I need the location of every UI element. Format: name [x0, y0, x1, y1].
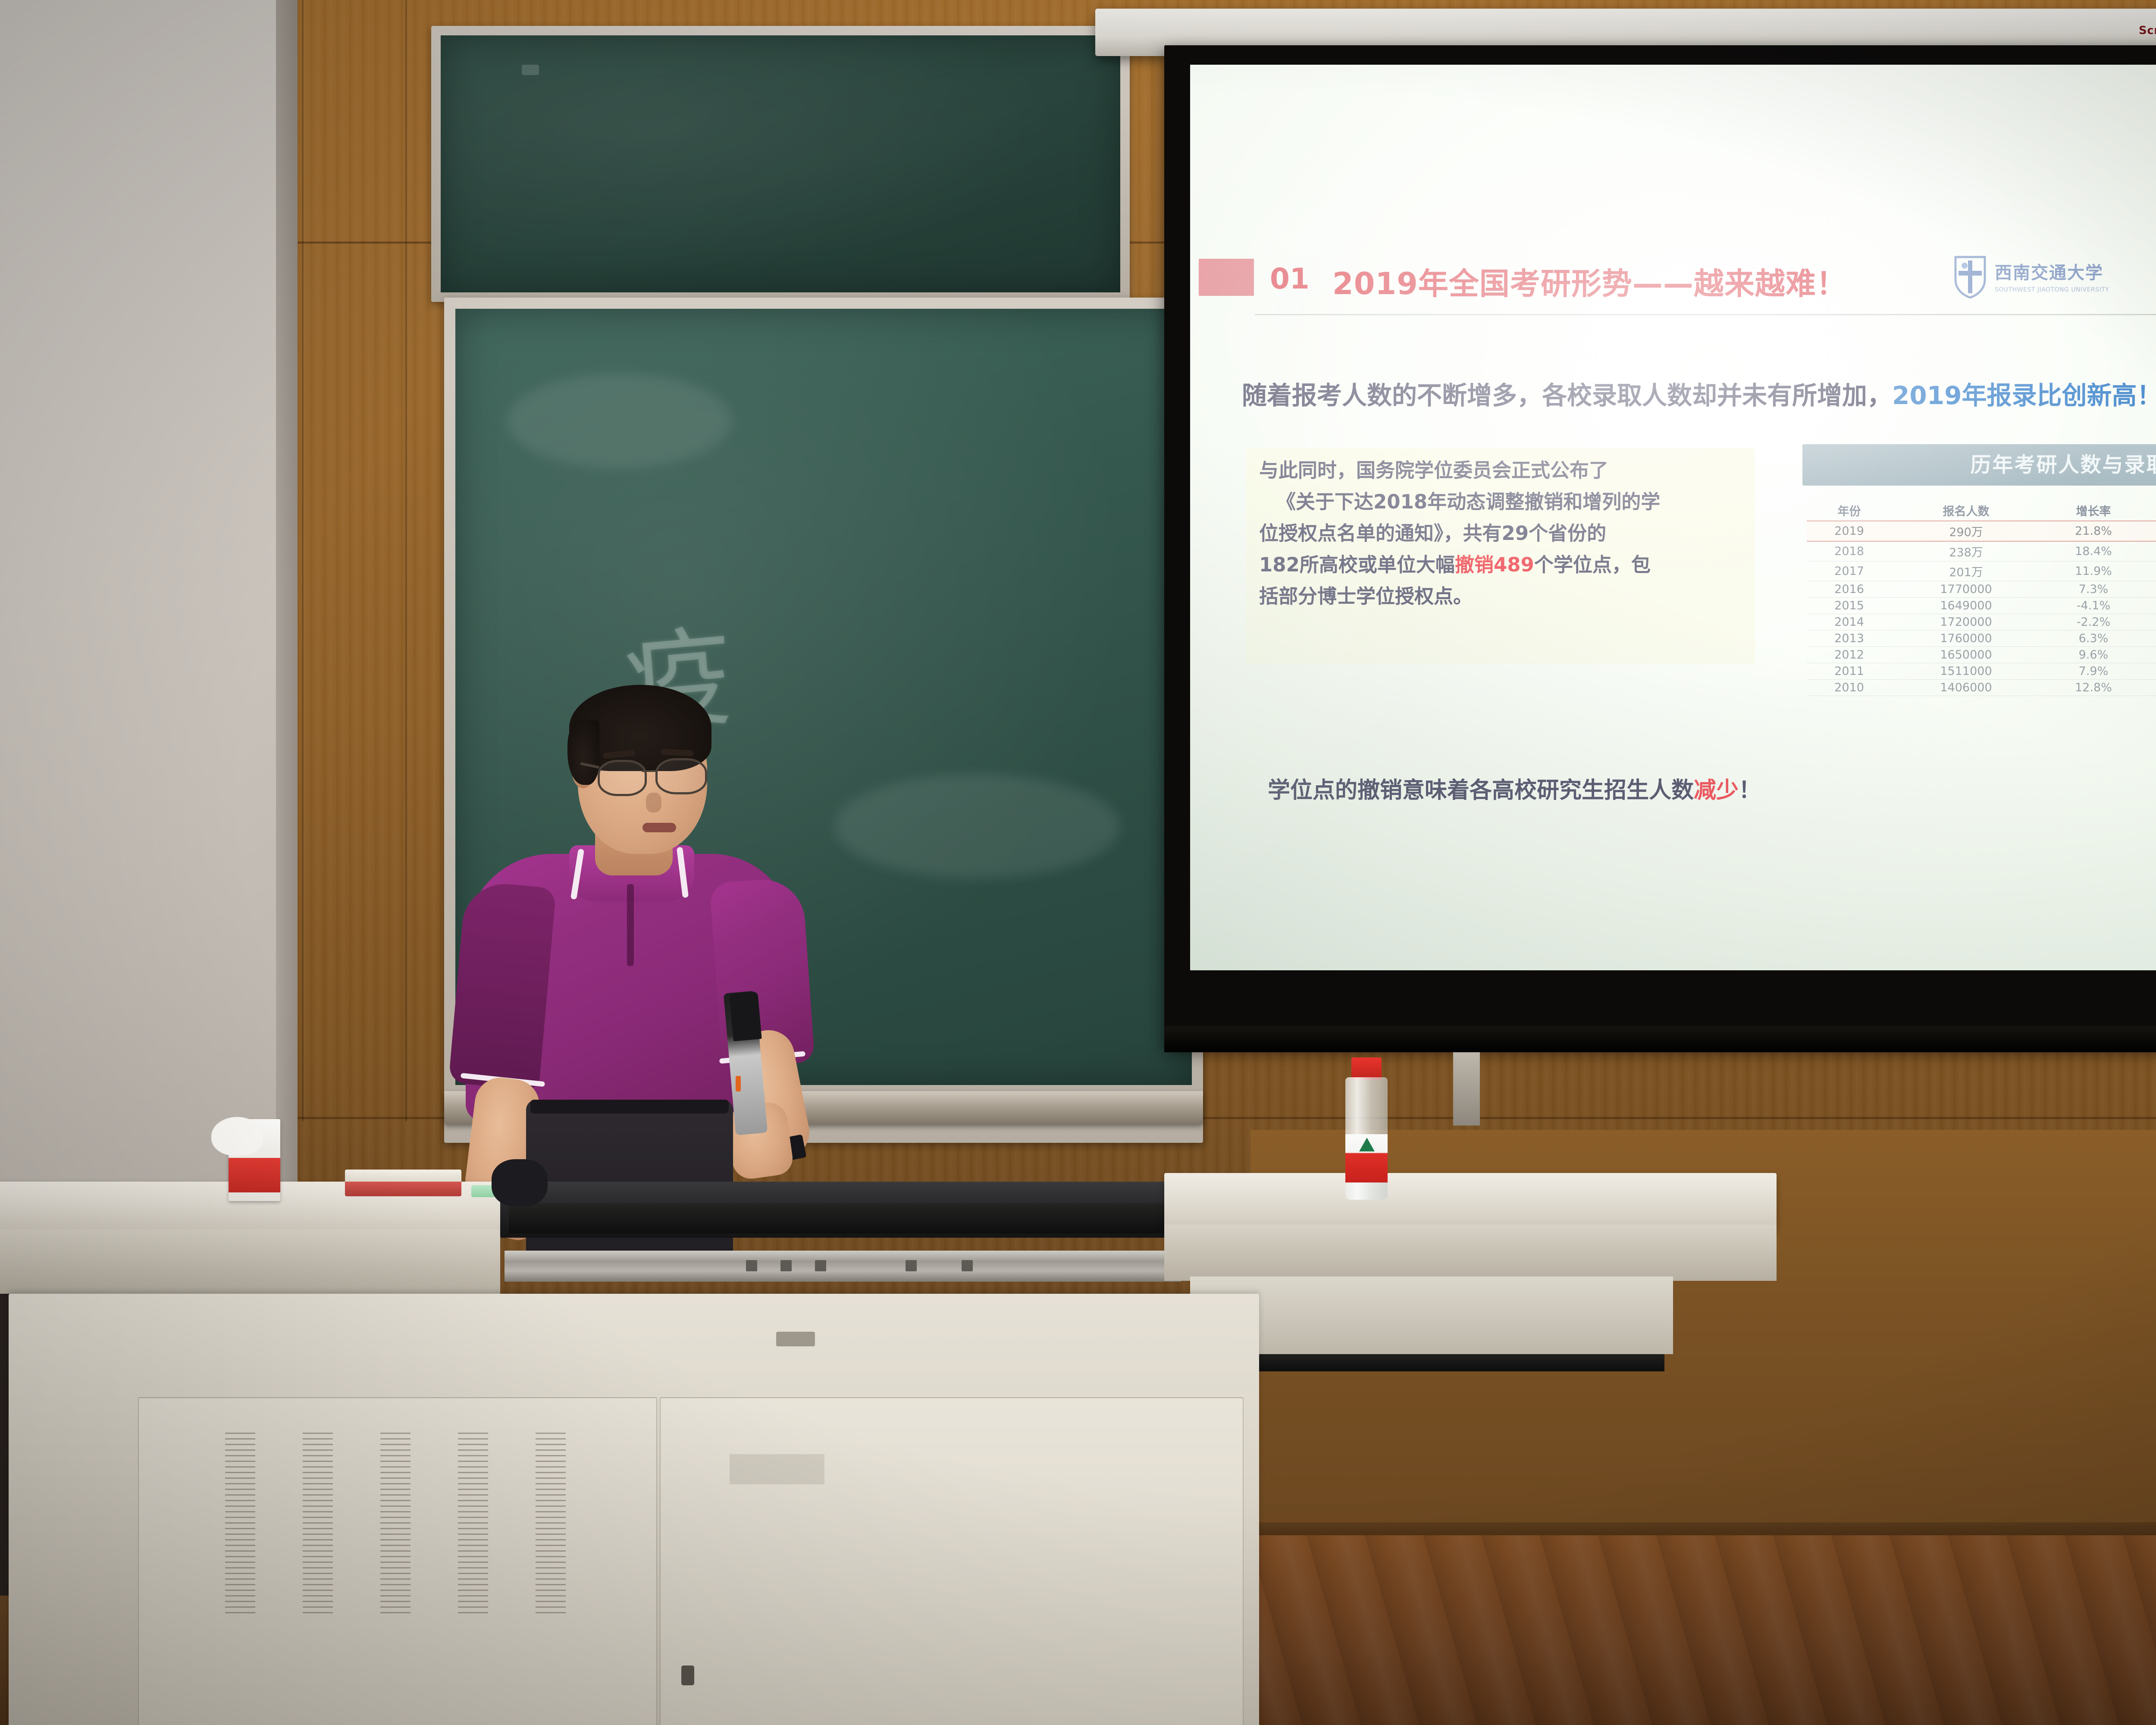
bottom-line-pre: 学位点的撤销意味着各高校研究生招生人数 [1268, 778, 1694, 803]
glasses-lens-left [598, 760, 647, 796]
chalk-mark [522, 65, 539, 75]
table-cell: 2015 [1807, 598, 1892, 614]
cabinet-lock [681, 1665, 694, 1685]
floor [1186, 1535, 2156, 1725]
table-cell: 2016 [1807, 581, 1892, 598]
table-row: 201115110007.9%4950003.1:1 [1807, 663, 2156, 680]
table-cell: 517200 [2147, 647, 2156, 663]
lectern-cabinet [9, 1294, 1259, 1725]
table-cell: 474400 [2147, 680, 2156, 696]
table-row: 2019290万21.8%72万4.0:1 [1807, 521, 2156, 541]
table-cell: -4.1% [2040, 598, 2147, 614]
cabinet-vent [458, 1433, 488, 1614]
glasses-bridge [642, 770, 657, 772]
table-cell: 545500 [2147, 614, 2156, 630]
table-column-header: 年份 [1807, 500, 1892, 521]
cabinet-door-right [660, 1397, 1244, 1725]
body-paragraph: 与此同时，国务院学位委员会正式公布了 《关于下达2018年动态调整撤销和增列的学… [1259, 455, 1746, 612]
table-title: 历年考研人数与录取统计 [1802, 444, 2156, 486]
table-row: 201216500009.6%5172003.2:1 [1807, 647, 2156, 663]
table-row: 2018238万18.4%76.25万3.1:1 [1807, 541, 2156, 561]
table-cell: 2019 [1807, 521, 1892, 541]
university-name-en: SOUTHWEST JIAOTONG UNIVERSITY [1995, 286, 2109, 293]
body-line-4-pre: 182所高校或单位大幅 [1259, 553, 1455, 576]
right-desk-top [1164, 1173, 1777, 1229]
drawer-slide-rail [505, 1251, 1181, 1282]
table-column-header: 增长率 [2040, 500, 2147, 521]
slide-accent-bar [1199, 259, 1254, 296]
wood-panel-line [405, 0, 407, 1121]
table-cell: 76.25万 [2147, 541, 2156, 561]
table-cell: 2012 [1807, 647, 1892, 663]
table-cell: 1650000 [1892, 647, 2040, 663]
bottom-line-highlight: 减少 [1694, 778, 1739, 803]
rail-hole [815, 1260, 826, 1271]
table-row: 2010140600012.8%4744003.0:1 [1807, 680, 2156, 696]
university-name: 西南交通大学 [1995, 259, 2109, 284]
table-cell: -2.2% [2040, 614, 2147, 630]
table-cell: 12.8% [2040, 680, 2147, 696]
table-column-header: 报名人数 [1892, 500, 2040, 521]
table-cell: 72.22万 [2147, 561, 2156, 581]
table-row: 20141720000-2.2%5455003.1:1 [1807, 614, 2156, 630]
body-line-5: 括部分博士学位授权点。 [1259, 581, 1746, 612]
microphone-head [729, 991, 761, 1041]
screen-bottom-bar [1164, 1026, 2156, 1052]
table-cell: 290万 [1892, 521, 2040, 541]
body-line-4-post: 个学位点，包 [1534, 553, 1651, 576]
table-cell: 540000 [2147, 630, 2156, 647]
table-title-band: 历年考研人数与录取统计 [1802, 444, 2156, 486]
body-line-3: 位授权点名单的通知》，共有29个省份的 [1259, 518, 1746, 549]
table-cell: 2010 [1807, 680, 1892, 696]
table-cell: 570000 [2147, 598, 2156, 614]
table-cell: 2013 [1807, 630, 1892, 647]
tissue-sheet [211, 1117, 263, 1156]
left-desk-edge [0, 1229, 500, 1294]
table-cell: 1770000 [1892, 581, 2040, 598]
cabinet-door-left [138, 1397, 657, 1725]
table-cell: 2011 [1807, 663, 1892, 680]
table-cell: 1649000 [1892, 598, 2040, 614]
tissue-box-label [229, 1158, 280, 1192]
slide-subtitle: 随着报考人数的不断增多，各校录取人数却并未有所增加，2019年报录比创新高！ [1242, 375, 2156, 411]
rail-hole [962, 1260, 973, 1271]
slide-title: 2019年全国考研形势——越来越难！ [1332, 260, 1847, 303]
right-cabinet-body [1190, 1276, 1673, 1354]
wood-panel-line [302, 0, 304, 1121]
screen-support-post [1453, 1052, 1480, 1126]
eraser-base [345, 1182, 461, 1196]
table-cell: 1511000 [1892, 663, 2040, 680]
microphone-indicator [736, 1076, 741, 1091]
chalk-smudge [835, 775, 1119, 878]
table-row: 201317600006.3%5400003.3:1 [1807, 630, 2156, 647]
table-cell: 18.4% [2040, 541, 2147, 561]
table-row: 20151649000-4.1%5700002.9:1 [1807, 598, 2156, 614]
glasses-lens-right [655, 758, 707, 794]
presenter-mouth [642, 823, 676, 832]
logo-group: 西南交通大学 SOUTHWEST JIAOTONG UNIVERSITY [1953, 250, 2156, 302]
cabinet-vent [536, 1433, 566, 1614]
table-cell: 589000 [2147, 581, 2156, 598]
rail-hole [906, 1260, 917, 1271]
bottom-line-post: ！ [1739, 778, 1761, 803]
table-cell: 21.8% [2040, 521, 2147, 541]
table-cell: 2017 [1807, 561, 1892, 581]
table-cell: 495000 [2147, 663, 2156, 680]
rail-hole [746, 1260, 757, 1271]
presenter-sideburn [567, 720, 599, 785]
table-cell: 238万 [1892, 541, 2040, 561]
table-cell: 1406000 [1892, 680, 2040, 696]
remote-control [492, 1159, 548, 1207]
table-cell: 72万 [2147, 521, 2156, 541]
table-cell: 11.9% [2040, 561, 2147, 581]
cabinet-vent [303, 1433, 333, 1614]
slide-section-number: 01 [1270, 262, 1310, 295]
shirt-placket [627, 884, 634, 966]
table-cell: 201万 [1892, 561, 2040, 581]
statistics-table: 年份报名人数增长率录取人数报录比 2019290万21.8%72万4.0:120… [1807, 500, 2156, 696]
cabinet-scuff [730, 1454, 824, 1484]
slide-bottom-line: 学位点的撤销意味着各高校研究生招生人数减少！ [1268, 772, 1761, 804]
presenter-belt [530, 1100, 729, 1113]
table-cell: 1760000 [1892, 630, 2040, 647]
left-white-wall [0, 0, 302, 1207]
university-shield-icon [1953, 254, 1987, 298]
table-body: 2019290万21.8%72万4.0:12018238万18.4%76.25万… [1807, 521, 2156, 696]
slide-content: 01 2019年全国考研形势——越来越难！ 西南交通大学 SOUTHWEST J… [1190, 65, 2156, 970]
body-line-4-highlight: 撤销489 [1455, 553, 1534, 576]
table-cell: 7.9% [2040, 663, 2147, 680]
eraser-felt [345, 1170, 461, 1182]
chalk-smudge [507, 373, 731, 468]
table-cell: 2018 [1807, 541, 1892, 561]
water-bottle [1340, 1057, 1393, 1200]
cabinet-vent [380, 1433, 411, 1614]
table-cell: 7.3% [2040, 581, 2147, 598]
table-cell: 1720000 [1892, 614, 2040, 630]
body-line-2: 《关于下达2018年动态调整撤销和增列的学 [1259, 486, 1746, 518]
table-cell: 2014 [1807, 614, 1892, 630]
subtitle-highlight: 2019年报录比创新高！ [1892, 381, 2156, 410]
bottle-cap [1351, 1057, 1382, 1080]
board-eraser [345, 1170, 461, 1195]
table-cell: 9.6% [2040, 647, 2147, 663]
body-line-4: 182所高校或单位大幅撤销489个学位点，包 [1259, 549, 1746, 581]
cabinet-handle [776, 1332, 815, 1346]
chalkboard-upper-surface [441, 35, 1120, 292]
subtitle-plain: 随着报考人数的不断增多，各校录取人数却并未有所增加， [1242, 381, 1892, 410]
table-cell: 6.3% [2040, 630, 2147, 647]
rail-hole [780, 1260, 792, 1271]
body-line-1: 与此同时，国务院学位委员会正式公布了 [1259, 455, 1746, 486]
statistics-table-wrap: 年份报名人数增长率录取人数报录比 2019290万21.8%72万4.0:120… [1807, 500, 2156, 696]
title-underline [1255, 314, 2156, 315]
presenter-left-sleeve [448, 881, 556, 1091]
presenter-nose [646, 793, 661, 812]
table-row: 2017201万11.9%72.22万2.8:1 [1807, 561, 2156, 581]
table-column-header: 录取人数 [2147, 500, 2156, 521]
projected-slide: 01 2019年全国考研形势——越来越难！ 西南交通大学 SOUTHWEST J… [1190, 65, 2156, 970]
table-row: 201617700007.3%5890003.0:1 [1807, 581, 2156, 598]
screen-brand-label: ScreenView [2139, 24, 2156, 37]
lecture-hall-photo: 疫 ScreenView 01 2019年全国考研形势——越来越难！ [0, 0, 2156, 1725]
cabinet-vent [225, 1433, 255, 1614]
tray-slot [509, 1203, 1173, 1233]
table-header-row: 年份报名人数增长率录取人数报录比 [1807, 500, 2156, 521]
right-desk-edge [1164, 1225, 1777, 1281]
